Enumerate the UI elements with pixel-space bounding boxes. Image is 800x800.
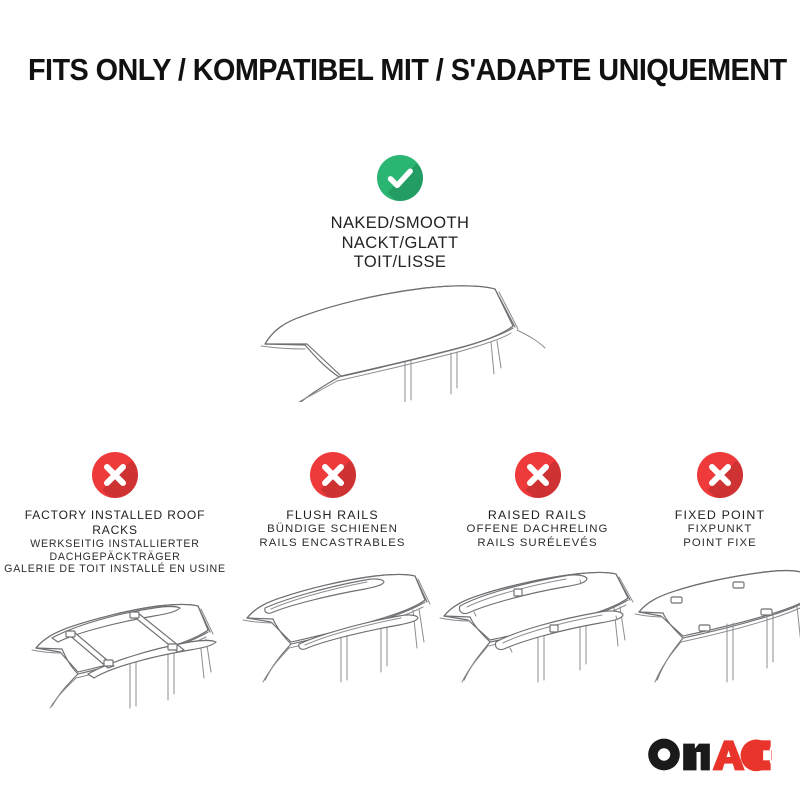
item-caption: FLUSH RAILS BÜNDIGE SCHIENEN RAILS ENCAS… xyxy=(259,508,405,550)
caption-line-2: WERKSEITIG INSTALLIERTER xyxy=(0,538,230,551)
car-roof-naked-smooth-illustration xyxy=(255,282,565,402)
caption-line-3: RAILS ENCASTRABLES xyxy=(259,537,405,551)
x-circle-icon xyxy=(310,452,356,498)
compatibility-infographic: FITS ONLY / KOMPATIBEL MIT / S'ADAPTE UN… xyxy=(0,0,800,800)
x-circle-icon xyxy=(697,452,743,498)
caption-line-3: DACHGEPÄCKTRÄGER xyxy=(0,551,230,564)
caption-line-1: RAISED RAILS xyxy=(467,508,609,523)
car-roof-raised-rails-illustration xyxy=(430,556,645,686)
item-caption: FACTORY INSTALLED ROOF RACKS WERKSEITIG … xyxy=(0,508,230,576)
compatible-group: NAKED/SMOOTH NACKT/GLATT TOIT/LISSE xyxy=(0,155,800,273)
car-roof-factory-installed-roof-racks-illustration xyxy=(8,582,223,712)
compatible-line-1: NAKED/SMOOTH xyxy=(331,214,470,232)
x-circle-icon xyxy=(515,452,561,498)
car-roof-flush-rails-illustration xyxy=(225,556,440,686)
car-roof-fixed-point-illustration xyxy=(625,556,800,686)
caption-line-2: OFFENE DACHRELING xyxy=(467,523,609,537)
caption-line-1: FLUSH RAILS xyxy=(259,508,405,523)
incompatible-item-raised-rails: RAISED RAILS OFFENE DACHRELING RAILS SUR… xyxy=(435,452,640,712)
item-caption: FIXED POINT FIXPUNKT POINT FIXE xyxy=(675,508,765,550)
caption-line-1: FACTORY INSTALLED ROOF RACKS xyxy=(0,508,230,538)
caption-line-3: RAILS SURÉLEVÉS xyxy=(467,537,609,551)
x-circle-icon xyxy=(92,452,138,498)
caption-line-1: FIXED POINT xyxy=(675,508,765,523)
compatible-caption: NAKED/SMOOTH NACKT/GLATT TOIT/LISSE xyxy=(331,214,470,273)
caption-line-2: FIXPUNKT xyxy=(675,523,765,537)
incompatible-item-flush-rails: FLUSH RAILS BÜNDIGE SCHIENEN RAILS ENCAS… xyxy=(230,452,435,712)
compatible-line-2: NACKT/GLATT xyxy=(342,234,459,252)
incompatible-group: FACTORY INSTALLED ROOF RACKS WERKSEITIG … xyxy=(0,452,800,712)
check-circle-icon xyxy=(377,155,423,201)
page-title: FITS ONLY / KOMPATIBEL MIT / S'ADAPTE UN… xyxy=(28,52,772,88)
caption-line-2: BÜNDIGE SCHIENEN xyxy=(259,523,405,537)
item-caption: RAISED RAILS OFFENE DACHRELING RAILS SUR… xyxy=(467,508,609,550)
caption-line-3: POINT FIXE xyxy=(675,537,765,551)
incompatible-item-fixed-point: FIXED POINT FIXPUNKT POINT FIXE xyxy=(640,452,800,712)
compatible-line-3: TOIT/LISSE xyxy=(354,253,447,271)
caption-line-4: GALERIE DE TOIT INSTALLÉ EN USINE xyxy=(0,563,230,576)
omac-logo xyxy=(646,737,772,772)
incompatible-item-factory-installed-roof-racks: FACTORY INSTALLED ROOF RACKS WERKSEITIG … xyxy=(0,452,230,712)
